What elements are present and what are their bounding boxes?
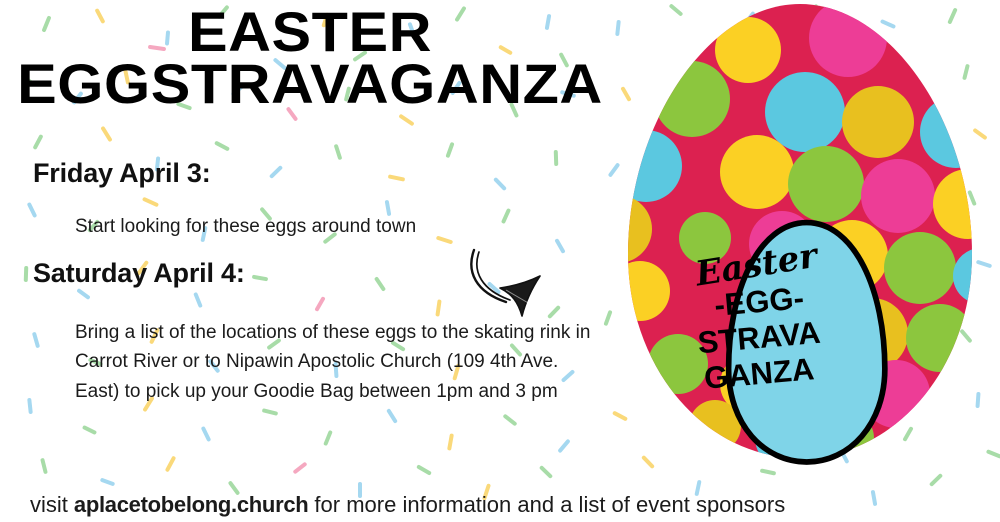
footer-tail-text: for more information and a list of event… [314,492,785,517]
friday-body: Start looking for these eggs around town [75,212,595,241]
egg-dot [610,130,682,202]
footer-website-link[interactable]: aplacetobelong.church [74,492,309,517]
title-line-eggstravaganza: EGGSTRAVAGANZA [0,58,639,110]
egg-dot [933,169,1000,239]
egg-dot [788,146,864,222]
footer-visit-label: visit [30,492,68,517]
egg-dot [842,86,914,158]
egg-dot [861,159,935,233]
egg-dot [906,304,974,372]
egg-dot [809,0,887,77]
saturday-heading: Saturday April 4: [33,258,245,289]
egg-dot [912,16,984,88]
egg-dot [765,72,845,152]
egg-dot [720,135,794,209]
poster-title: EASTER EGGSTRAVAGANZA [0,6,620,109]
hand-drawn-arrow-icon [462,246,582,322]
egg-dot [920,96,992,168]
easter-egg-illustration: Easter -EGG- STRAVA GANZA [600,0,1000,486]
footer-line: visitaplacetobelong.churchfor more infor… [0,492,1000,518]
easter-eggstravaganza-poster: Easter -EGG- STRAVA GANZA EASTER EGGSTRA… [0,0,1000,522]
egg-dot [715,17,781,83]
title-line-easter: EASTER [0,6,639,58]
saturday-body: Bring a list of the locations of these e… [75,318,595,406]
friday-heading: Friday April 3: [33,158,211,189]
egg-dot [654,61,730,137]
egg-dot [884,232,956,304]
